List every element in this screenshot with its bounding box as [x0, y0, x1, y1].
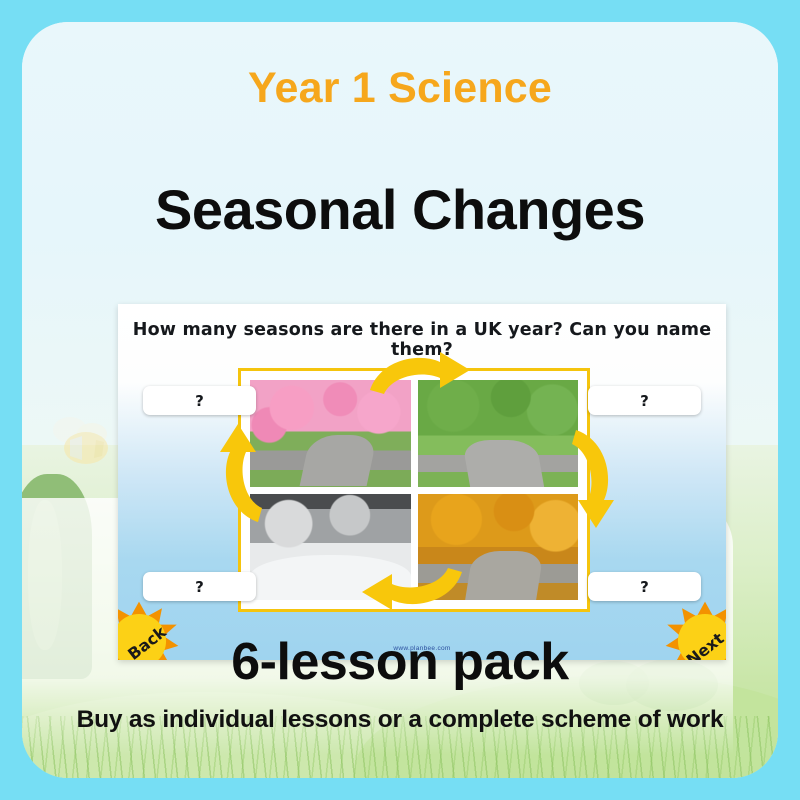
- pack-subtitle: Buy as individual lessons or a complete …: [22, 706, 778, 734]
- cycle-arrow-up-icon: [214, 422, 266, 526]
- page-title: Seasonal Changes: [22, 177, 778, 242]
- answer-box-bottom-right[interactable]: ?: [588, 572, 701, 601]
- season-photo-spring: [250, 380, 411, 487]
- lesson-slide-preview[interactable]: How many seasons are there in a UK year?…: [118, 304, 726, 660]
- bee-icon: [40, 412, 118, 470]
- content-card: Year 1 Science Seasonal Changes How many…: [22, 22, 778, 778]
- pack-headline: 6-lesson pack: [22, 632, 778, 692]
- cycle-arrow-left-icon: [358, 566, 466, 612]
- product-image-frame: Year 1 Science Seasonal Changes How many…: [0, 0, 800, 800]
- season-photo-summer: [418, 380, 579, 487]
- answer-box-top-right[interactable]: ?: [588, 386, 701, 415]
- cycle-arrow-down-icon: [568, 426, 620, 530]
- subject-eyebrow: Year 1 Science: [22, 64, 778, 113]
- cycle-arrow-right-icon: [366, 350, 474, 394]
- answer-box-top-left[interactable]: ?: [143, 386, 256, 415]
